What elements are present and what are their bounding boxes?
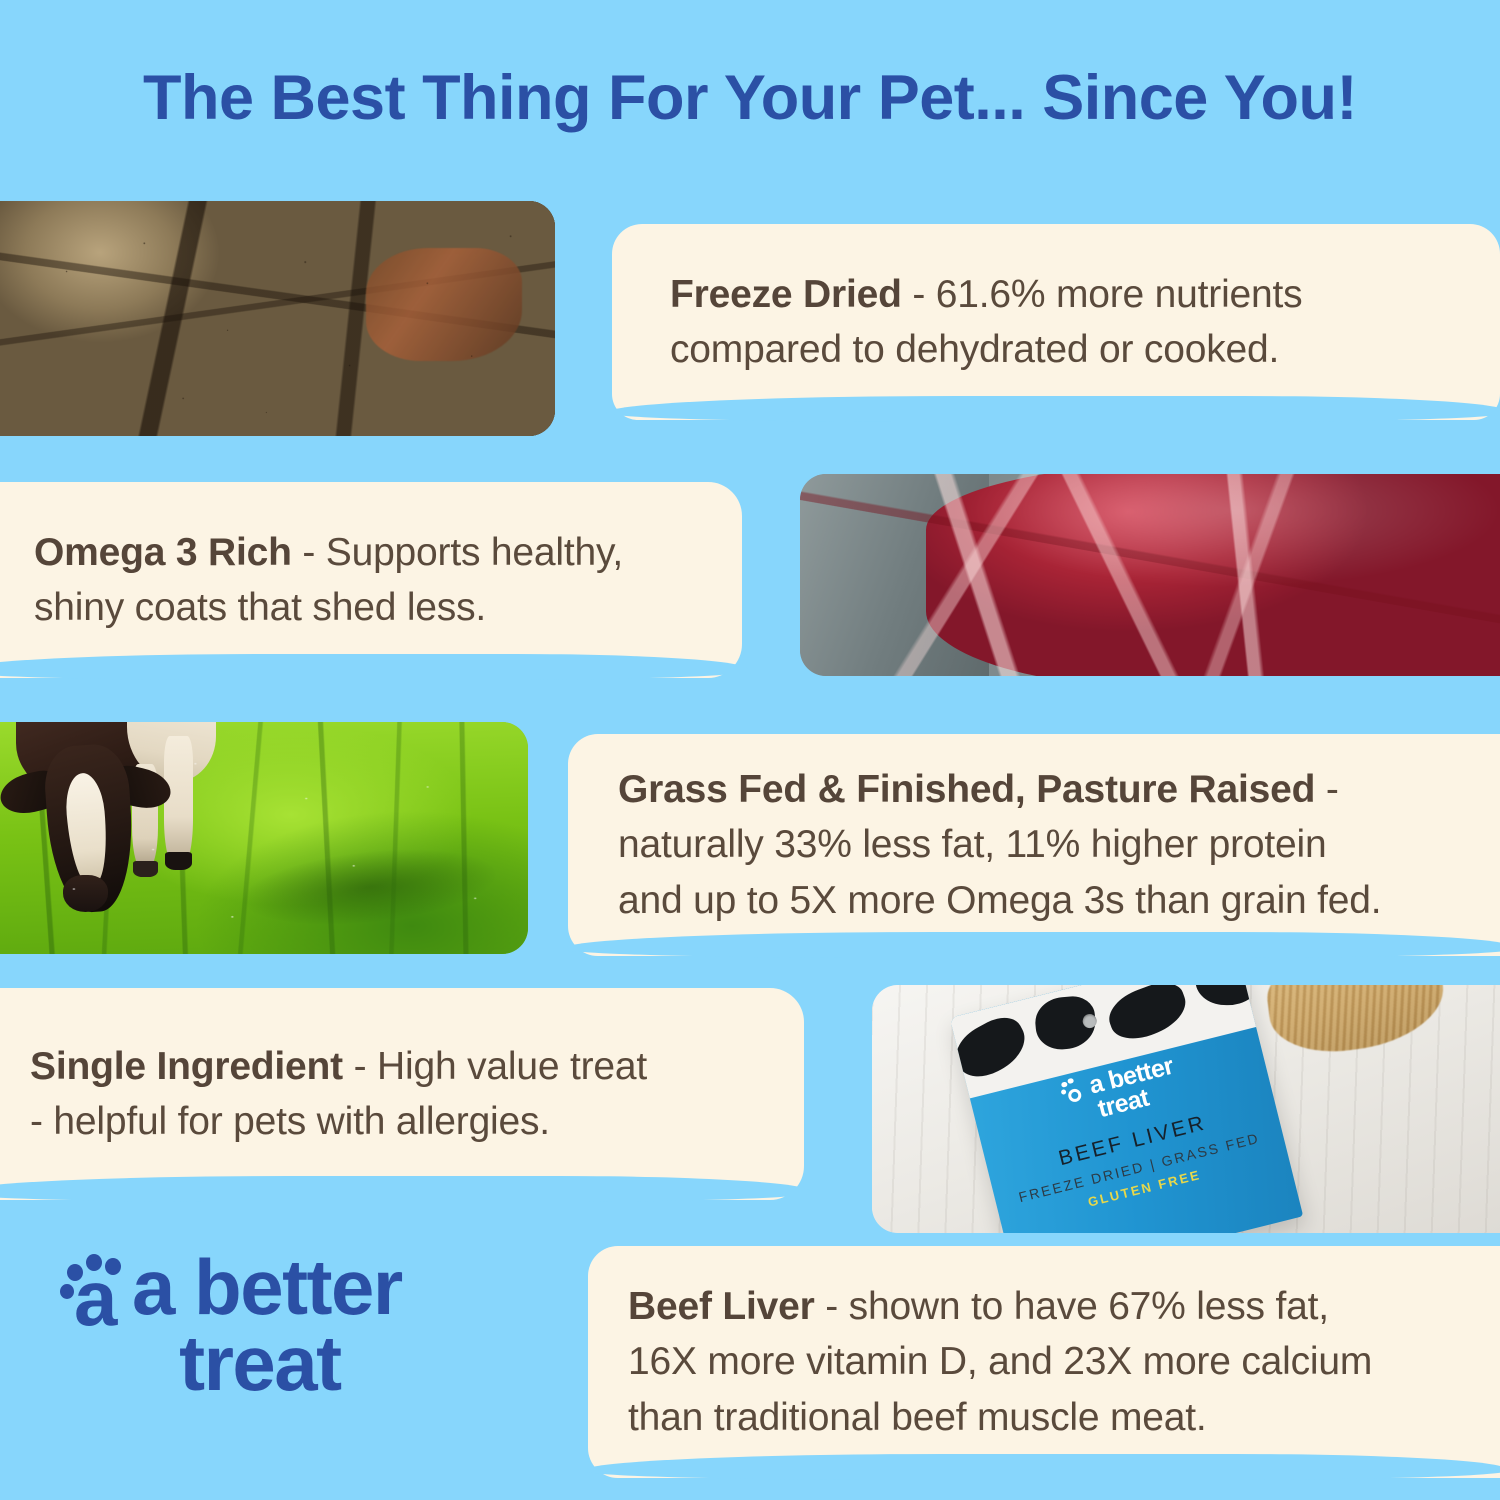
photo-layer-sheen [800,474,1500,676]
photo-freeze-dried-liver-cubes [0,201,555,436]
photo-grazing-cow [0,722,528,954]
photo-layer-clover [0,722,528,954]
benefit-card-omega-3-rich: Omega 3 Rich - Supports healthy, shiny c… [0,482,742,678]
benefit-title: Omega 3 Rich [34,531,292,574]
benefit-line-1-rest: Supports healthy, [326,531,623,574]
benefit-line-1-rest: 61.6% more nutrients [936,273,1303,316]
logo-letter-a: a [74,1274,126,1326]
benefit-card-single-ingredient: Single Ingredient - High value treat - h… [0,988,804,1200]
benefit-line-1: Grass Fed & Finished, Pasture Raised - [618,762,1500,817]
paw-print-icon: a [60,1252,126,1326]
logo-text-line-1: a better [132,1250,402,1326]
benefit-line-3: and up to 5X more Omega 3s than grain fe… [618,873,1500,928]
benefit-line-1: Freeze Dried - 61.6% more nutrients [670,267,1442,322]
benefit-dash: - [902,273,936,316]
benefit-line-2: shiny coats that shed less. [34,580,742,635]
benefit-dash: - [1315,768,1338,811]
benefit-card-beef-liver: Beef Liver - shown to have 67% less fat,… [588,1246,1500,1478]
benefit-dash: - [343,1045,377,1088]
cow-spot [1102,985,1192,1046]
benefit-title: Single Ingredient [30,1045,343,1088]
benefit-dash: - [815,1285,849,1328]
infographic-poster: The Best Thing For Your Pet... Since You… [0,0,1500,1500]
paw-print-icon [1058,1075,1086,1106]
benefit-line-1: Omega 3 Rich - Supports healthy, [34,525,742,580]
benefit-title: Freeze Dried [670,273,902,316]
benefit-dash: - [292,531,326,574]
photo-layer-grit [0,201,555,436]
photo-raw-beef [800,474,1500,676]
product-package: a better treat BEEF LIVER FREEZE DRIED |… [950,985,1304,1233]
benefit-line-2: naturally 33% less fat, 11% higher prote… [618,817,1500,872]
benefit-title: Grass Fed & Finished, Pasture Raised [618,768,1315,811]
benefit-line-3: than traditional beef muscle meat. [628,1390,1500,1445]
benefit-title: Beef Liver [628,1285,815,1328]
benefit-line-1: Single Ingredient - High value treat [30,1039,804,1094]
benefit-line-1-rest: shown to have 67% less fat, [849,1285,1329,1328]
benefit-line-1: Beef Liver - shown to have 67% less fat, [628,1279,1500,1334]
page-title: The Best Thing For Your Pet... Since You… [0,62,1500,134]
benefit-line-2: - helpful for pets with allergies. [30,1094,804,1149]
benefit-card-grass-fed: Grass Fed & Finished, Pasture Raised - n… [568,734,1500,956]
logo-line-1: a a better [60,1250,402,1326]
benefit-line-1-rest: High value treat [377,1045,647,1088]
benefit-line-2: 16X more vitamin D, and 23X more calcium [628,1334,1500,1389]
brand-logo: a a better treat [60,1250,402,1401]
benefit-line-2: compared to dehydrated or cooked. [670,322,1442,377]
benefit-card-freeze-dried: Freeze Dried - 61.6% more nutrients comp… [612,224,1500,420]
photo-product-package: a better treat BEEF LIVER FREEZE DRIED |… [872,985,1500,1233]
